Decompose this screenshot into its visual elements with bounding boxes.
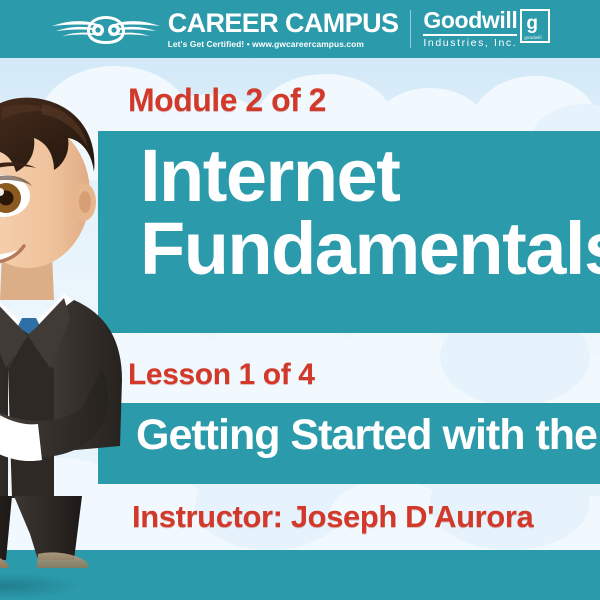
goodwill-smiling-g-icon: g goodwill xyxy=(520,9,550,43)
logo-divider xyxy=(410,10,411,48)
header-logo-row: CAREER CAMPUS Let's Get Certified! • www… xyxy=(50,9,551,49)
module-label: Module 2 of 2 xyxy=(128,83,326,118)
slide-canvas: CAREER CAMPUS Let's Get Certified! • www… xyxy=(0,0,600,600)
brand-name: CAREER CAMPUS xyxy=(168,10,399,37)
winged-owl-logo-icon xyxy=(50,10,162,48)
career-campus-block: CAREER CAMPUS Let's Get Certified! • www… xyxy=(168,10,399,48)
instructor-character-illustration xyxy=(0,68,132,568)
character-svg xyxy=(0,68,132,568)
instructor-label: Instructor: Joseph D'Aurora xyxy=(132,500,600,534)
goodwill-text: Goodwill Industries, Inc. xyxy=(423,9,517,49)
brand-tagline: Let's Get Certified! • www.gwcareercampu… xyxy=(168,40,364,48)
partner-rule xyxy=(423,34,517,36)
header-bar: CAREER CAMPUS Let's Get Certified! • www… xyxy=(0,0,600,58)
lesson-title: Getting Started with the Internet xyxy=(136,412,600,459)
partner-name: Goodwill xyxy=(423,9,517,32)
goodwill-mark-word: goodwill xyxy=(524,35,542,40)
goodwill-logo-block: Goodwill Industries, Inc. g goodwill xyxy=(423,9,550,49)
goodwill-g-letter: g xyxy=(526,14,538,33)
partner-subtitle: Industries, Inc. xyxy=(423,38,517,49)
character-shadow xyxy=(0,573,82,599)
course-title: Internet Fundamentals xyxy=(140,140,600,285)
lesson-label: Lesson 1 of 4 xyxy=(128,358,315,391)
